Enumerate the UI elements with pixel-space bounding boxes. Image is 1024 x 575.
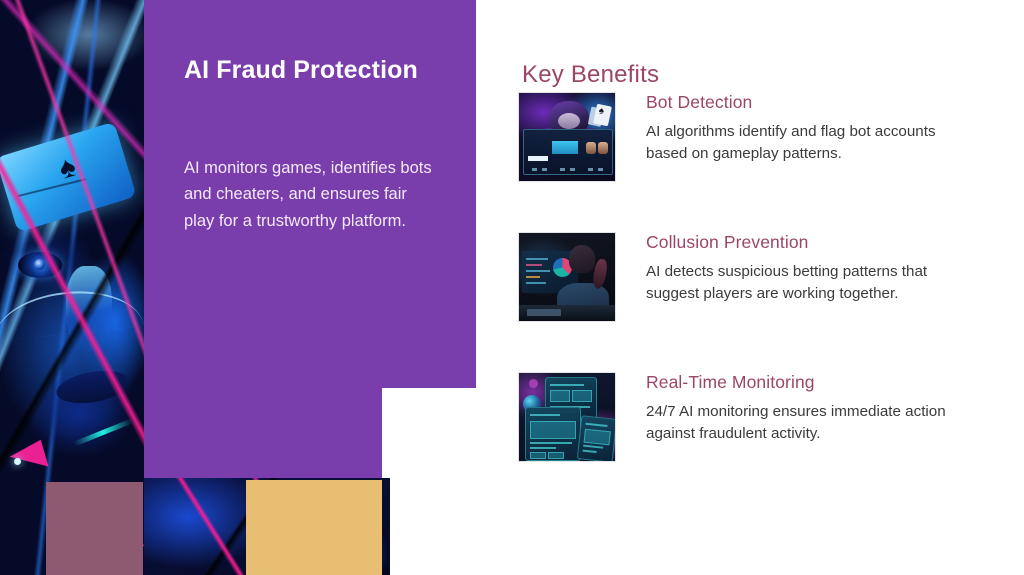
purple-panel-lower [144, 388, 382, 478]
thumb2-data-line [526, 276, 540, 278]
thumb3-block [530, 421, 576, 439]
thumb1-tick [570, 168, 575, 171]
thumb3-row [530, 442, 572, 444]
slide-title: AI Fraud Protection [184, 55, 454, 86]
thumb3-block [584, 429, 611, 446]
thumb1-input-bar [528, 156, 548, 161]
thumb3-row [583, 450, 597, 453]
thumb3-row [585, 423, 607, 427]
key-benefits-section: Key Benefits [518, 0, 998, 575]
slide-description: AI monitors games, identifies bots and c… [184, 155, 434, 235]
benefit-item-real-time-monitoring: Real-Time Monitoring 24/7 AI monitoring … [518, 372, 998, 462]
thumb2-data-line [526, 258, 548, 260]
benefit-thumbnail-real-time-monitoring [518, 372, 616, 462]
thumb3-accent-dot [529, 379, 538, 388]
thumb3-block [572, 390, 592, 402]
benefit-text-collusion-prevention: Collusion Prevention AI detects suspicio… [646, 232, 976, 304]
thumb3-block [530, 452, 546, 459]
decor-block-gold [246, 480, 382, 575]
thumb1-tick [588, 168, 593, 171]
thumb3-row [583, 445, 603, 449]
hero-art-light-dot [14, 458, 21, 465]
thumb1-tick [532, 168, 537, 171]
benefit-text-real-time-monitoring: Real-Time Monitoring 24/7 AI monitoring … [646, 372, 976, 444]
thumb1-tick [560, 168, 565, 171]
thumb1-screen-block [552, 141, 578, 154]
thumb2-keyboard [527, 309, 561, 316]
benefit-text-bot-detection: Bot Detection AI algorithms identify and… [646, 92, 976, 164]
thumb3-row [530, 414, 560, 416]
benefit-list: Bot Detection AI algorithms identify and… [518, 92, 998, 512]
thumb3-row [530, 447, 556, 449]
thumb1-avatar-1 [586, 142, 596, 154]
benefit-description: 24/7 AI monitoring ensures immediate act… [646, 401, 976, 444]
thumb2-person-head [569, 245, 595, 273]
thumb1-tick [598, 168, 603, 171]
benefit-item-collusion-prevention: Collusion Prevention AI detects suspicio… [518, 232, 998, 322]
key-benefits-heading: Key Benefits [522, 61, 659, 89]
thumb3-block [548, 452, 564, 459]
thumb2-data-line [526, 282, 546, 284]
thumb1-casino-dashboard [523, 129, 613, 175]
slide-canvas: ♠ AI Fraud Protection AI monitors games,… [0, 0, 1024, 575]
thumb2-data-line [526, 270, 550, 272]
thumb3-block [550, 390, 570, 402]
benefit-thumbnail-collusion-prevention [518, 232, 616, 322]
decor-block-mauve [46, 482, 143, 575]
benefit-title: Bot Detection [646, 92, 976, 113]
thumb1-tick [542, 168, 547, 171]
thumb3-dashboard-panel [577, 415, 616, 462]
thumb2-data-line [526, 264, 542, 266]
benefit-description: AI detects suspicious betting patterns t… [646, 261, 976, 304]
benefit-description: AI algorithms identify and flag bot acco… [646, 121, 976, 164]
benefit-thumbnail-bot-detection [518, 92, 616, 182]
benefit-title: Real-Time Monitoring [646, 372, 976, 393]
thumb3-dashboard-panel [525, 407, 581, 461]
benefit-item-bot-detection: Bot Detection AI algorithms identify and… [518, 92, 998, 182]
benefit-title: Collusion Prevention [646, 232, 976, 253]
thumb1-avatar-2 [598, 142, 608, 154]
thumb3-row [550, 384, 584, 386]
